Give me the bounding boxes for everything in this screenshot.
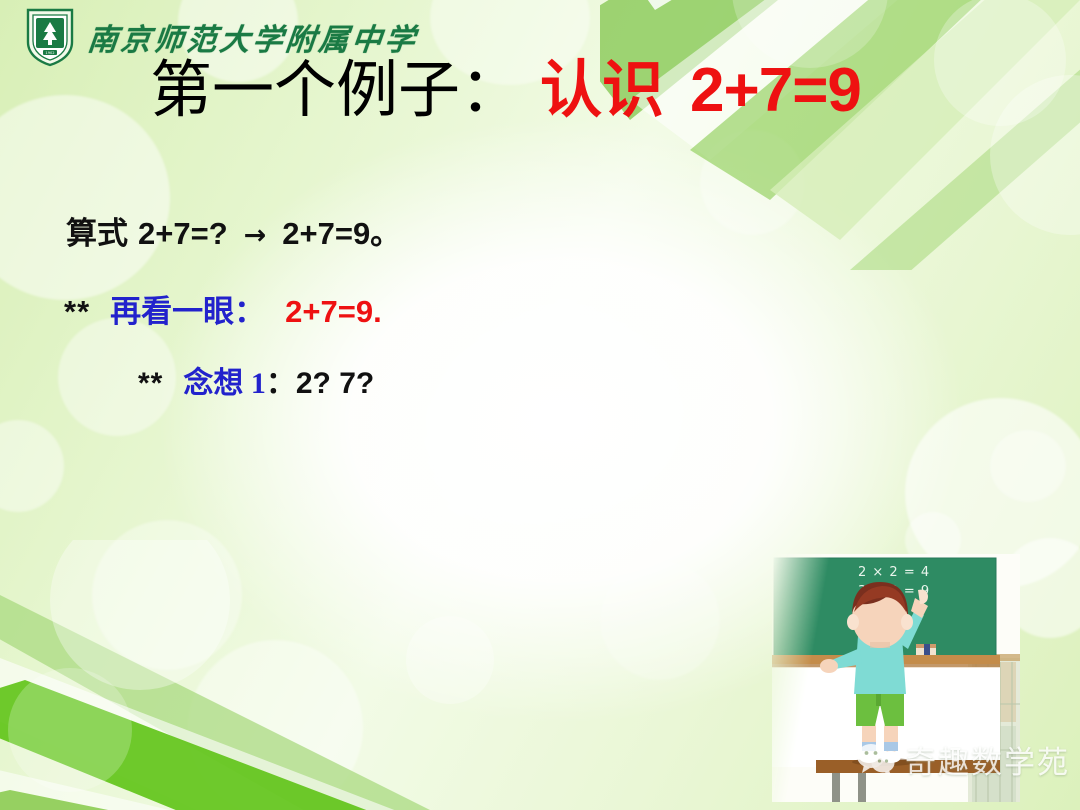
page-title: 第一个例子：认识2+7=9 <box>150 58 861 124</box>
line3-question: 2? 7? <box>296 367 374 400</box>
arrow-right-icon: → <box>238 220 273 251</box>
school-shield-emblem-icon: 1902 <box>24 6 76 68</box>
watermark-text: 奇趣数学苑 <box>905 737 1070 782</box>
title-equation: 2+7=9 <box>690 56 861 125</box>
line2-stars: ** <box>64 294 90 329</box>
bokeh-circle <box>990 430 1066 502</box>
title-prefix: 第一个例子： <box>150 57 522 125</box>
line1-label: 算式 <box>66 216 128 251</box>
bokeh-circle <box>600 560 720 680</box>
decor-ribbons-bottom-left <box>0 540 550 810</box>
body-line-1: 算式2+7=?→2+7=9。 <box>66 208 401 253</box>
svg-text:1902: 1902 <box>45 51 54 55</box>
ribbon-shapes-bottom-left <box>0 540 550 810</box>
ribbon-shapes-top-right <box>600 0 1080 270</box>
line2-equation: 2+7=9. <box>285 294 382 329</box>
line2-prompt: 再看一眼： <box>110 294 265 329</box>
title-highlight: 认识 <box>540 57 664 125</box>
wechat-logo-icon <box>856 743 896 776</box>
decor-ribbons-top-right <box>600 0 1080 270</box>
line3-colon: ： <box>266 367 296 400</box>
line3-stars: ** <box>138 367 163 400</box>
school-name-text: 南京师范大学附属中学 <box>86 15 421 59</box>
presentation-slide: 1902 南京师范大学附属中学 第一个例子：认识2+7=9 算式2+7=?→2+… <box>0 0 1080 810</box>
line3-prompt: 念想 1 <box>183 367 266 400</box>
body-line-3: **念想 1：2? 7? <box>138 358 374 402</box>
watermark: 奇趣数学苑 <box>856 737 1070 782</box>
body-line-2: **再看一眼：2+7=9. <box>64 286 382 331</box>
line1-answer: 2+7=9。 <box>282 216 401 251</box>
chalkboard-line-1: 2 × 2 = 4 <box>858 565 930 580</box>
line1-question: 2+7=? <box>138 216 228 251</box>
